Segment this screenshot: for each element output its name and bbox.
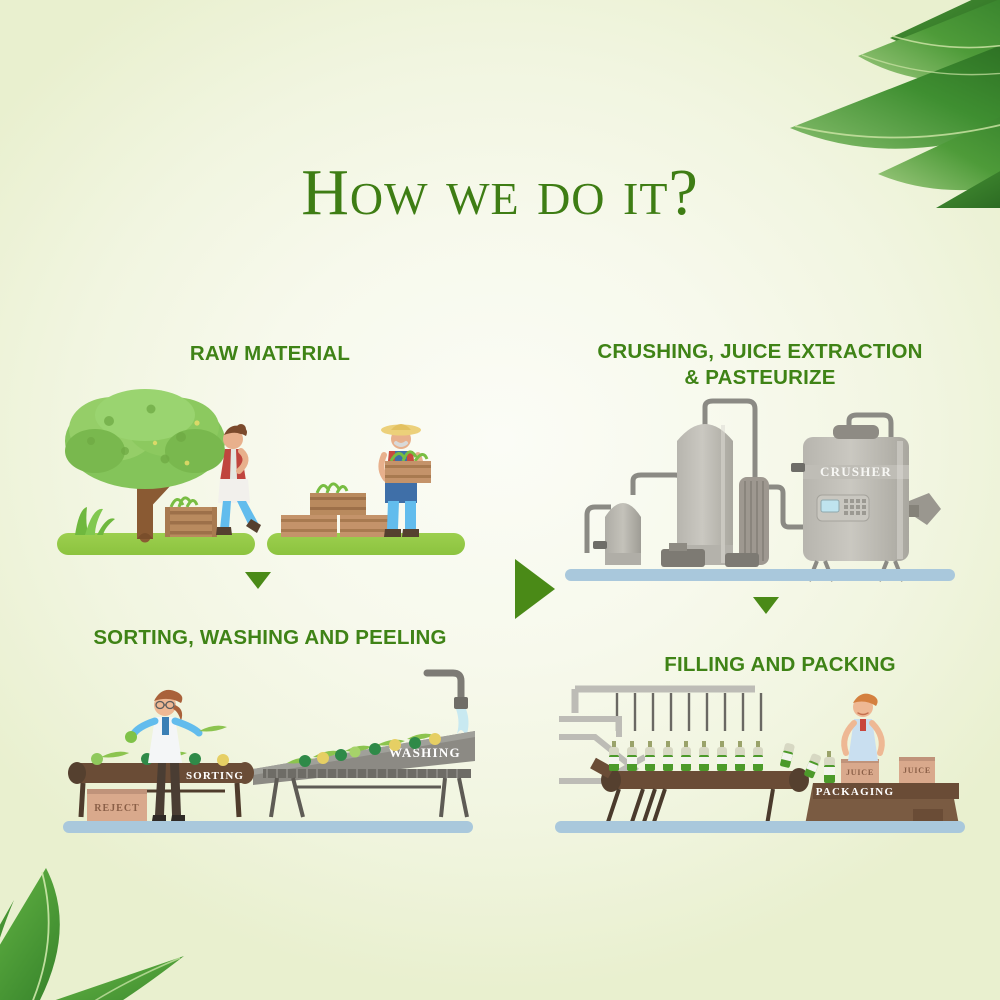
bottle-standing-on-table xyxy=(824,751,835,783)
bottle xyxy=(627,741,637,771)
bottle xyxy=(645,741,655,771)
scene-raw-material xyxy=(55,385,475,565)
juice-box-left: JUICE xyxy=(841,759,879,783)
bottle xyxy=(663,741,673,771)
bottle-tilted xyxy=(804,753,822,779)
worker-farmer-with-crate xyxy=(381,424,431,537)
conveyor-bottling xyxy=(593,763,809,825)
bottle xyxy=(681,741,691,771)
section-label-crushing-line1: CRUSHING, JUICE EXTRACTION xyxy=(560,339,960,365)
page-title: How we do it? xyxy=(0,160,1000,226)
scene-crushing-machinery: CRUSHER xyxy=(565,395,955,590)
bottle xyxy=(735,741,745,771)
factory-floor-sorting xyxy=(63,821,473,833)
factory-floor-crushing xyxy=(565,569,955,581)
reject-bin: REJECT xyxy=(87,789,147,821)
arrow-crushing-to-filling-icon xyxy=(753,597,779,614)
bottle xyxy=(717,741,727,771)
packaging-table-label: PACKAGING xyxy=(816,786,894,798)
section-label-sorting: SORTING, WASHING AND PEELING xyxy=(40,625,500,651)
worker-packer xyxy=(844,694,882,761)
scene-filling-packing: PACKAGING JUICE JUICE xyxy=(555,685,965,835)
overhead-gantry xyxy=(575,689,761,731)
machine-crusher: CRUSHER xyxy=(791,425,941,581)
bottle-tilted xyxy=(780,742,796,768)
tank-small xyxy=(593,503,641,565)
ground-pad-left xyxy=(57,533,255,555)
arrow-raw-to-sorting-icon xyxy=(245,572,271,589)
sorting-belt-label: SORTING xyxy=(186,770,244,782)
juice-box-right: JUICE xyxy=(899,757,935,783)
section-label-filling: FILLING AND PACKING xyxy=(580,652,980,678)
crate-stack xyxy=(281,484,396,537)
held-fruit xyxy=(125,731,137,743)
juice-box-right-label: JUICE xyxy=(903,766,931,775)
juice-box-left-label: JUICE xyxy=(846,768,874,777)
bottle xyxy=(609,741,619,771)
column-filter xyxy=(739,477,769,565)
held-produce xyxy=(199,726,227,732)
infographic-poster: How we do it? RAW MATERIAL CRUSHING, JUI… xyxy=(0,0,1000,1000)
bottle xyxy=(699,741,709,771)
factory-floor-filling xyxy=(555,821,965,833)
scene-sorting-washing: WASHING xyxy=(55,665,480,840)
reject-bin-label: REJECT xyxy=(94,803,139,814)
control-panel xyxy=(817,495,869,521)
crate-near-tree xyxy=(165,498,217,537)
crusher-machine-label: CRUSHER xyxy=(820,464,892,479)
packing-table: PACKAGING xyxy=(805,783,959,825)
bottle xyxy=(753,741,763,771)
section-label-crushing: CRUSHING, JUICE EXTRACTION & PASTEURIZE xyxy=(560,339,960,391)
section-label-raw-material: RAW MATERIAL xyxy=(70,341,470,367)
water-pipe xyxy=(427,673,469,737)
grass-bush xyxy=(75,507,115,535)
arrow-left-to-right-icon xyxy=(515,559,555,619)
section-label-crushing-line2: & PASTEURIZE xyxy=(560,365,960,391)
conveyor-washing: WASHING xyxy=(253,731,475,817)
